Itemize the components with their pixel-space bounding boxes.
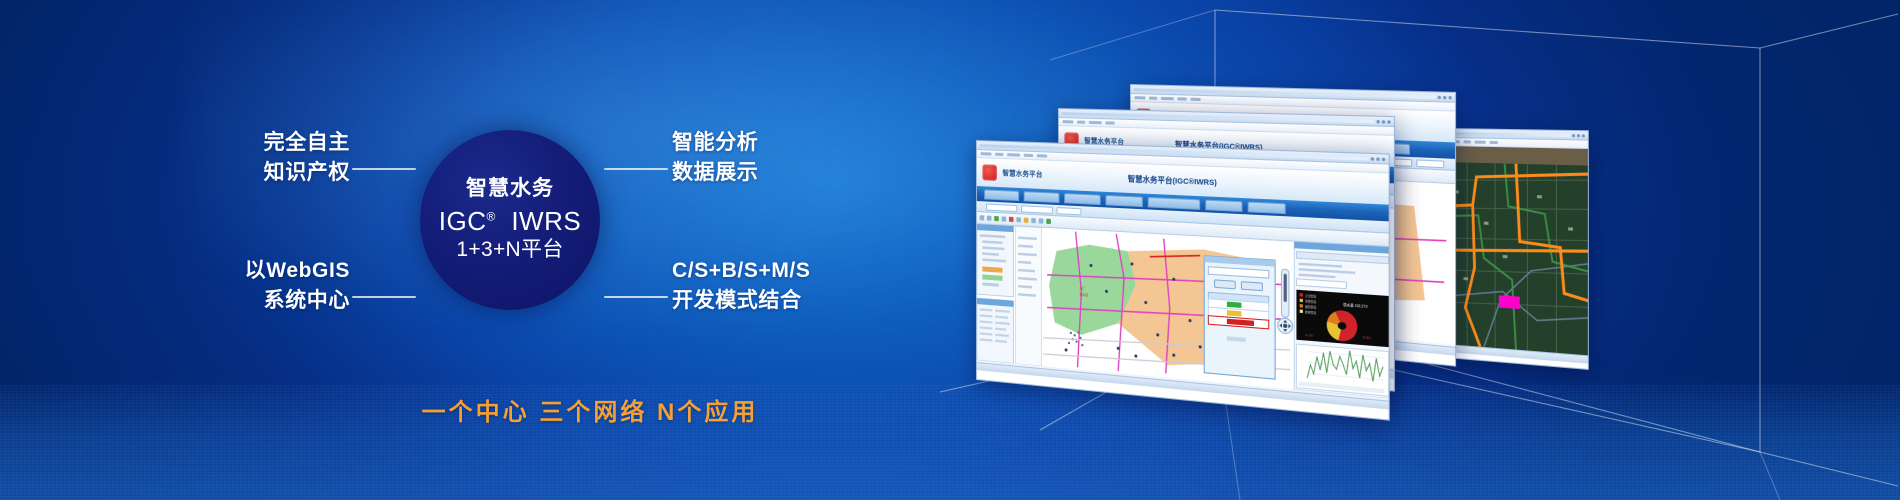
sub-tab <box>1416 159 1444 168</box>
close-icon[interactable] <box>1448 96 1451 99</box>
maximize-icon[interactable] <box>1443 95 1446 98</box>
feature-top-right: 智能分析 数据展示 <box>672 128 872 188</box>
feature-top-right-line1: 智能分析 <box>672 131 758 154</box>
connector-bottom-right <box>604 296 668 298</box>
svg-text:供水区: 供水区 <box>1079 291 1088 297</box>
minimize-icon[interactable] <box>1572 134 1575 137</box>
nav-tab-综合监控 <box>984 189 1019 201</box>
feature-bottom-right-line1: C/S+B/S+M/S <box>672 259 810 282</box>
hub-title-cn: 智慧水务 <box>466 178 554 201</box>
feature-top-left-line2: 知识产权 <box>200 158 350 188</box>
highlighted-area <box>1499 295 1520 309</box>
close-icon[interactable] <box>1382 157 1385 160</box>
maximize-icon[interactable] <box>1382 120 1385 123</box>
feature-bottom-right: C/S+B/S+M/S 开发模式结合 <box>672 256 902 316</box>
sub-tab-水量平衡分析 <box>986 203 1017 212</box>
satellite-map-svg <box>1447 146 1588 355</box>
messaging-block: 智慧水务 IGC® IWRS 1+3+N平台 完全自主 知识产权 智能分析 数据… <box>0 0 980 500</box>
feature-bottom-left-line1: 以WebGIS <box>245 259 350 282</box>
hub-platform: 1+3+N平台 <box>456 239 563 262</box>
feature-bottom-left-line2: 系统中心 <box>180 286 350 316</box>
tagline: 一个中心 三个网络 N个应用 <box>360 392 820 427</box>
feature-bottom-left: 以WebGIS 系统中心 <box>180 256 350 316</box>
feature-bottom-right-line2: 开发模式结合 <box>672 286 902 316</box>
maximize-icon[interactable] <box>1376 157 1379 160</box>
feature-top-left-line1: 完全自主 <box>264 131 350 154</box>
nav-tab-管网巡检 <box>1106 194 1143 206</box>
feature-top-left: 完全自主 知识产权 <box>200 128 350 188</box>
close-icon[interactable] <box>1387 120 1390 123</box>
sub-tab-流量监测 <box>1057 207 1082 215</box>
connector-top-left <box>352 168 416 170</box>
app-window-front[interactable]: 智慧水务平台 智慧水务平台(IGC®IWRS) <box>976 140 1390 421</box>
nav-tab-客户服务 <box>1205 199 1242 211</box>
app-window-back-map[interactable] <box>1446 128 1589 370</box>
nav-tab-营收管理 <box>1064 193 1100 205</box>
svg-text:41.2%: 41.2% <box>1305 334 1314 338</box>
hub-brand-iwrs: IWRS <box>511 206 581 236</box>
right-dock: 正常管段预警管段 故障管段检修管段 供水量 102,273 41.2% 32.8… <box>1294 242 1389 399</box>
hub-brand-igc: IGC <box>439 206 487 236</box>
nav-tab-维修和调度分析 <box>1148 196 1200 209</box>
hub-brand: IGC® IWRS <box>439 207 581 235</box>
analysis-dialog <box>1204 256 1275 379</box>
svg-text:32.8%: 32.8% <box>1363 336 1372 340</box>
maximize-icon[interactable] <box>1577 134 1580 137</box>
feature-top-right-line2: 数据展示 <box>672 158 872 188</box>
nav-tab-系统管理 <box>1248 201 1286 214</box>
minimize-icon[interactable] <box>1376 120 1379 123</box>
sub-tab-压力调度分析 <box>1021 205 1053 214</box>
minimize-icon[interactable] <box>1438 95 1441 98</box>
svg-text:水厂: 水厂 <box>1079 285 1085 291</box>
close-icon[interactable] <box>1582 134 1585 137</box>
titlebar-strip <box>1450 132 1570 137</box>
connector-top-right <box>604 168 668 170</box>
nav-tab-管网管理 <box>1024 191 1060 203</box>
registered-icon: ® <box>487 209 496 223</box>
satellite-map-canvas[interactable] <box>1447 146 1588 355</box>
connector-bottom-left <box>352 296 416 298</box>
promo-banner: 智慧水务 IGC® IWRS 1+3+N平台 完全自主 知识产权 智能分析 数据… <box>0 0 1900 500</box>
minimize-icon[interactable] <box>1371 157 1374 160</box>
platform-hub-circle: 智慧水务 IGC® IWRS 1+3+N平台 <box>420 130 600 310</box>
